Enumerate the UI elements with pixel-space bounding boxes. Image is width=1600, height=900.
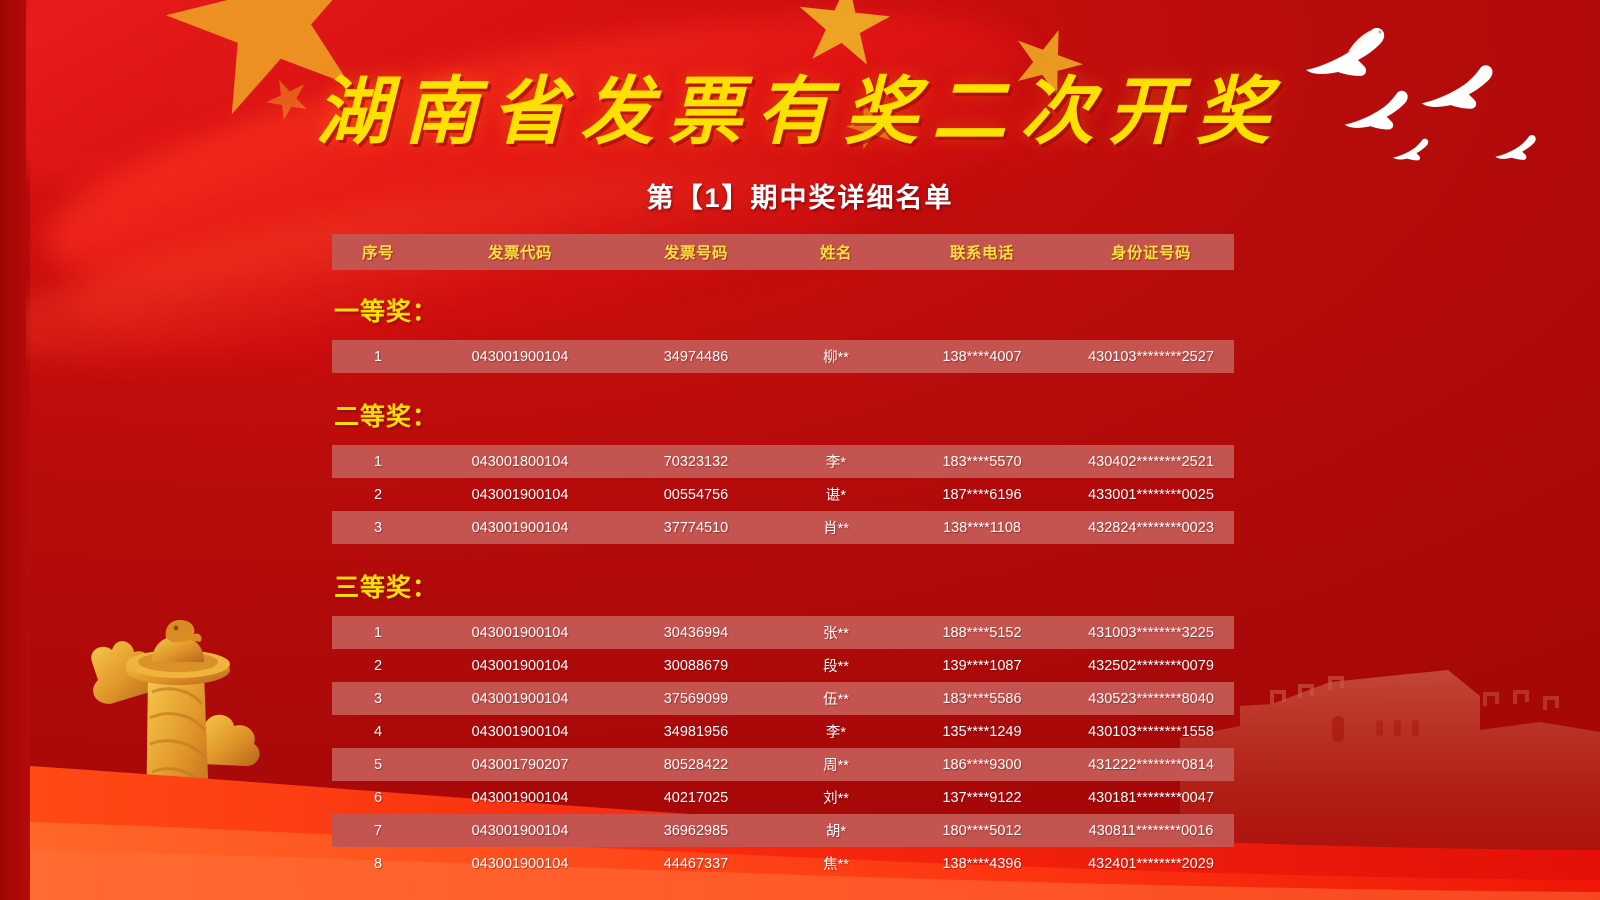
- table-row: 2 043001900104 00554756 谌* 187****6196 4…: [332, 478, 1234, 511]
- huabiao-column-decoration: [86, 618, 276, 848]
- column-header-invoice-code: 发票代码: [424, 241, 616, 263]
- cell-name: 焦**: [776, 853, 896, 874]
- cell-id-number: 430181********0047: [1068, 790, 1234, 806]
- cell-invoice-number: 30436994: [616, 625, 776, 641]
- cell-name: 谌*: [776, 484, 896, 505]
- table-header-row: 序号 发票代码 发票号码 姓名 联系电话 身份证号码: [332, 234, 1234, 270]
- cell-no: 8: [332, 856, 424, 872]
- cell-name: 张**: [776, 622, 896, 643]
- table-row: 3 043001900104 37569099 伍** 183****5586 …: [332, 682, 1234, 715]
- cell-name: 伍**: [776, 688, 896, 709]
- cell-id-number: 430103********2527: [1068, 349, 1234, 365]
- cell-name: 周**: [776, 754, 896, 775]
- cell-id-number: 431222********0814: [1068, 757, 1234, 773]
- cell-invoice-number: 30088679: [616, 658, 776, 674]
- cell-no: 1: [332, 454, 424, 470]
- cell-invoice-code: 043001900104: [424, 691, 616, 707]
- cell-phone: 188****5152: [896, 625, 1068, 641]
- cell-no: 2: [332, 487, 424, 503]
- table-row: 7 043001900104 36962985 胡* 180****5012 4…: [332, 814, 1234, 847]
- cell-invoice-number: 40217025: [616, 790, 776, 806]
- prize-section-label-third: 三等奖：: [332, 568, 1234, 604]
- cell-id-number: 432824********0023: [1068, 520, 1234, 536]
- cell-invoice-code: 043001900104: [424, 658, 616, 674]
- cell-invoice-code: 043001900104: [424, 625, 616, 641]
- cell-invoice-code: 043001900104: [424, 823, 616, 839]
- cell-name: 肖**: [776, 517, 896, 538]
- cell-invoice-number: 70323132: [616, 454, 776, 470]
- cell-id-number: 431003********3225: [1068, 625, 1234, 641]
- cell-invoice-code: 043001900104: [424, 856, 616, 872]
- cell-name: 李*: [776, 721, 896, 742]
- column-header-invoice-number: 发票号码: [616, 241, 776, 263]
- column-header-no: 序号: [332, 241, 424, 263]
- table-row: 2 043001900104 30088679 段** 139****1087 …: [332, 649, 1234, 682]
- cell-invoice-code: 043001900104: [424, 520, 616, 536]
- poster-root: 湖南省发票有奖二次开奖 第【1】期中奖详细名单 序号 发票代码 发票号码 姓名 …: [0, 0, 1600, 900]
- table-row: 1 043001800104 70323132 李* 183****5570 4…: [332, 445, 1234, 478]
- cell-name: 李*: [776, 451, 896, 472]
- cell-name: 刘**: [776, 787, 896, 808]
- cell-no: 1: [332, 625, 424, 641]
- cell-phone: 183****5570: [896, 454, 1068, 470]
- column-header-phone: 联系电话: [896, 241, 1068, 263]
- cell-phone: 183****5586: [896, 691, 1068, 707]
- table-row: 5 043001790207 80528422 周** 186****9300 …: [332, 748, 1234, 781]
- cell-id-number: 433001********0025: [1068, 487, 1234, 503]
- cell-invoice-code: 043001900104: [424, 790, 616, 806]
- cell-phone: 186****9300: [896, 757, 1068, 773]
- cell-invoice-code: 043001900104: [424, 724, 616, 740]
- column-header-name: 姓名: [776, 241, 896, 263]
- cell-id-number: 430523********8040: [1068, 691, 1234, 707]
- table-row: 4 043001900104 34981956 李* 135****1249 4…: [332, 715, 1234, 748]
- cell-no: 3: [332, 691, 424, 707]
- cell-invoice-code: 043001800104: [424, 454, 616, 470]
- cell-invoice-code: 043001900104: [424, 349, 616, 365]
- cell-phone: 135****1249: [896, 724, 1068, 740]
- table-row: 1 043001900104 30436994 张** 188****5152 …: [332, 616, 1234, 649]
- cell-id-number: 432401********2029: [1068, 856, 1234, 872]
- table-row: 3 043001900104 37774510 肖** 138****1108 …: [332, 511, 1234, 544]
- cell-phone: 138****1108: [896, 520, 1068, 536]
- cell-phone: 138****4396: [896, 856, 1068, 872]
- cell-invoice-number: 37569099: [616, 691, 776, 707]
- prize-section-label-second: 二等奖：: [332, 397, 1234, 433]
- cell-no: 5: [332, 757, 424, 773]
- cell-phone: 180****5012: [896, 823, 1068, 839]
- cell-invoice-code: 043001790207: [424, 757, 616, 773]
- cell-no: 2: [332, 658, 424, 674]
- cell-name: 柳**: [776, 346, 896, 367]
- cell-no: 4: [332, 724, 424, 740]
- cell-no: 3: [332, 520, 424, 536]
- cell-id-number: 430402********2521: [1068, 454, 1234, 470]
- cell-no: 7: [332, 823, 424, 839]
- cell-name: 段**: [776, 655, 896, 676]
- cell-id-number: 430811********0016: [1068, 823, 1234, 839]
- cell-phone: 187****6196: [896, 487, 1068, 503]
- cell-name: 胡*: [776, 820, 896, 841]
- cell-invoice-number: 34974486: [616, 349, 776, 365]
- column-header-id-number: 身份证号码: [1068, 241, 1234, 263]
- table-row: 1 043001900104 34974486 柳** 138****4007 …: [332, 340, 1234, 373]
- cell-phone: 139****1087: [896, 658, 1068, 674]
- cell-invoice-number: 80528422: [616, 757, 776, 773]
- cell-invoice-number: 00554756: [616, 487, 776, 503]
- page-subtitle: 第【1】期中奖详细名单: [0, 176, 1600, 215]
- cell-no: 6: [332, 790, 424, 806]
- table-row: 8 043001900104 44467337 焦** 138****4396 …: [332, 847, 1234, 880]
- cell-invoice-number: 44467337: [616, 856, 776, 872]
- cell-invoice-number: 34981956: [616, 724, 776, 740]
- great-wall-decoration: [1180, 610, 1600, 860]
- cell-phone: 138****4007: [896, 349, 1068, 365]
- cell-invoice-number: 36962985: [616, 823, 776, 839]
- cell-id-number: 432502********0079: [1068, 658, 1234, 674]
- cell-phone: 137****9122: [896, 790, 1068, 806]
- prize-section-label-first: 一等奖：: [332, 292, 1234, 328]
- cell-invoice-number: 37774510: [616, 520, 776, 536]
- page-title: 湖南省发票有奖二次开奖: [0, 52, 1600, 159]
- cell-invoice-code: 043001900104: [424, 487, 616, 503]
- cell-id-number: 430103********1558: [1068, 724, 1234, 740]
- table-row: 6 043001900104 40217025 刘** 137****9122 …: [332, 781, 1234, 814]
- cell-no: 1: [332, 349, 424, 365]
- winners-table: 序号 发票代码 发票号码 姓名 联系电话 身份证号码 一等奖： 1 043001…: [332, 234, 1234, 880]
